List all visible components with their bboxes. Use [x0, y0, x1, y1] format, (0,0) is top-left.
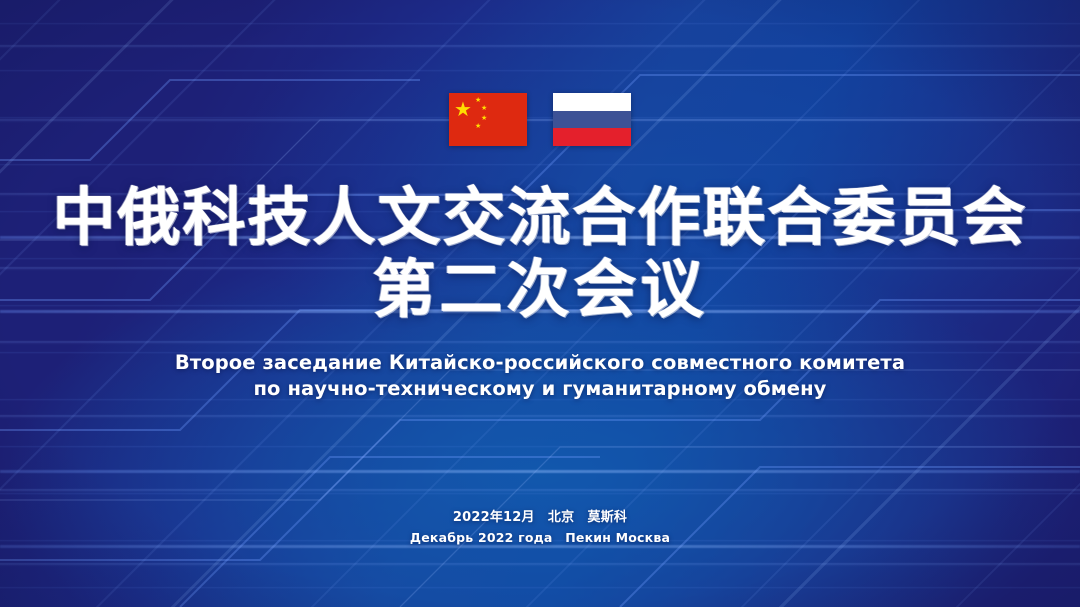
china-flag-star-2: ★: [481, 105, 487, 112]
flag-row: ★ ★ ★ ★ ★: [0, 93, 1080, 146]
china-flag-star-4: ★: [475, 123, 481, 130]
footer-russian-date: Декабрь 2022 года Пекин Москва: [0, 528, 1080, 547]
china-flag-star-1: ★: [475, 97, 481, 104]
footer-chinese-date: 2022年12月 北京 莫斯科: [0, 508, 1080, 528]
russia-flag-icon: [553, 93, 631, 146]
china-flag-star-3: ★: [481, 115, 487, 122]
presentation-title-slide: ★ ★ ★ ★ ★ 中俄科技人文交流合作联合委员会 第二次会议 Второе з…: [0, 0, 1080, 607]
page-subtitle: Второе заседание Китайско-российского со…: [0, 350, 1080, 401]
china-flag-star-large: ★: [454, 99, 472, 119]
page-title: 中俄科技人文交流合作联合委员会 第二次会议: [0, 185, 1080, 322]
title-chinese-line-1: 中俄科技人文交流合作联合委员会: [0, 185, 1080, 251]
subtitle-russian-line-1: Второе заседание Китайско-российского со…: [0, 350, 1080, 376]
subtitle-russian-line-2: по научно-техническому и гуманитарному о…: [0, 376, 1080, 402]
russia-flag-band-red: [553, 128, 631, 146]
title-chinese-line-2: 第二次会议: [0, 257, 1080, 323]
footer-date-venue: 2022年12月 北京 莫斯科 Декабрь 2022 года Пекин …: [0, 508, 1080, 548]
background-bright-streak-3: [0, 470, 1080, 473]
russia-flag-band-blue: [553, 111, 631, 129]
china-flag-icon: ★ ★ ★ ★ ★: [449, 93, 527, 146]
russia-flag-band-white: [553, 93, 631, 111]
